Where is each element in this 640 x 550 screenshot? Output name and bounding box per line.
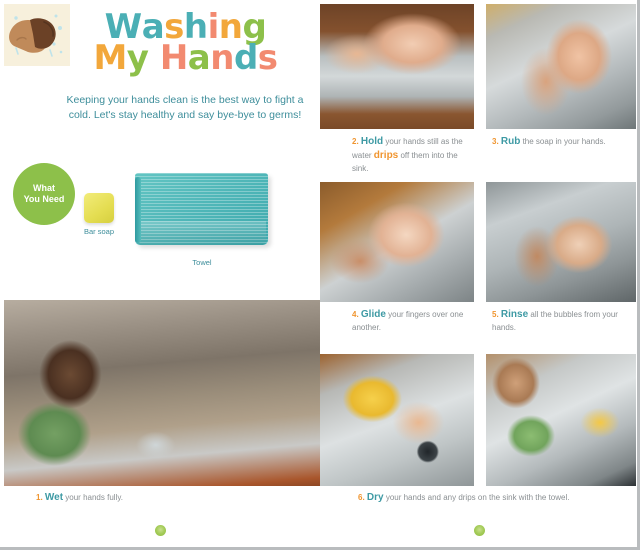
title-2-letter-3: H [160,43,188,74]
title-2-letter-2 [148,43,159,74]
step-6-keyword: Dry [367,492,384,503]
towel-label: Towel [150,258,254,267]
step-3-text: the soap in your hands. [520,137,605,146]
step-6-photo-a [320,354,474,486]
bar-soap-label: Bar soap [62,227,136,236]
step-3-keyword: Rub [501,136,520,147]
step-4-photo [320,182,474,302]
step-2-number: 2. [352,137,359,146]
step-3-caption: 3. Rub the soap in your hands. [492,135,636,149]
what-you-need-badge: What You Need [13,163,75,225]
step-3-number: 3. [492,137,499,146]
step-6-caption: 6. Dry your hands and any drips on the s… [358,491,636,505]
title-2-letter-6: d [234,43,258,74]
step-5-photo [486,182,636,302]
step-5-keyword: Rinse [501,309,528,320]
what-you-need-line-2: You Need [24,194,65,204]
page-marker-right[interactable] [474,525,485,536]
step-6-text: your hands and any drips on the sink wit… [384,493,570,502]
step-1-number: 1. [36,493,43,502]
step-5-number: 5. [492,310,499,319]
title-2-letter-0: M [93,43,126,74]
step-2-photo [320,4,474,129]
towel-image [135,173,270,248]
step-4-number: 4. [352,310,359,319]
title-2-letter-7: s [258,43,278,74]
step-6-number: 6. [358,493,365,502]
step-2-emphasis: drips [374,150,398,161]
page-subtitle: Keeping your hands clean is the best way… [60,93,310,123]
step-4-keyword: Glide [361,309,386,320]
washing-hands-illustration-icon [4,4,70,66]
title-2-letter-4: a [188,43,210,74]
step-2-caption: 2. Hold your hands still as the water dr… [352,135,472,174]
step-3-photo [486,4,636,129]
step-2-keyword: Hold [361,136,383,147]
bar-soap-image [84,193,114,223]
step-4-caption: 4. Glide your fingers over one another. [352,308,472,333]
step-1-photo [4,300,320,486]
step-1-text: your hands fully. [63,493,123,502]
step-5-caption: 5. Rinse all the bubbles from your hands… [492,308,632,333]
what-you-need-line-1: What [33,183,55,193]
title-2-letter-5: n [210,43,234,74]
page-title-line-2: My Hands [78,43,293,74]
step-1-keyword: Wet [45,492,63,503]
page-title: Washing My Hands [78,12,293,75]
worksheet-page: Washing My Hands Keeping your hands clea… [0,0,640,550]
title-2-letter-1: y [127,43,149,74]
step-1-caption: 1. Wet your hands fully. [36,491,296,505]
page-marker-left[interactable] [155,525,166,536]
step-6-photo-b [486,354,636,486]
